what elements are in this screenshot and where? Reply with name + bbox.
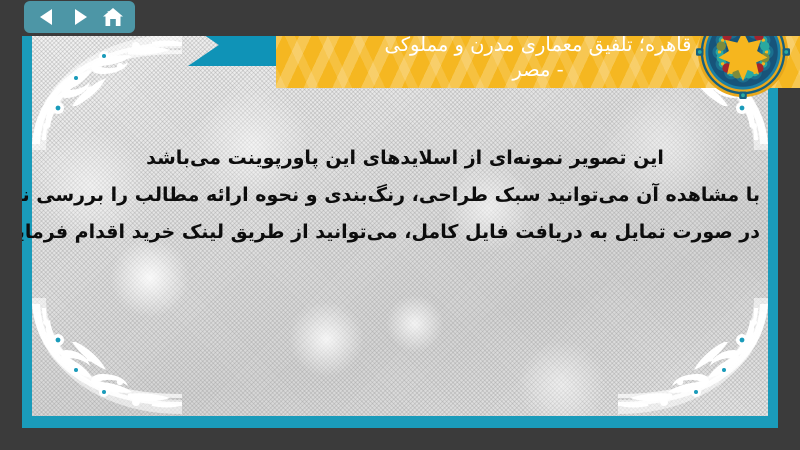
home-icon <box>102 7 124 28</box>
body-line-2: با مشاهده آن می‌توانید سبک طراحی، رنگ‌بن… <box>50 177 760 214</box>
next-slide-button[interactable] <box>66 4 94 30</box>
body-line-1: این تصویر نمونه‌ای از اسلایدهای این پاور… <box>50 140 760 177</box>
previous-slide-button[interactable] <box>33 4 61 30</box>
presentation-viewer: این تصویر نمونه‌ای از اسلایدهای این پاور… <box>0 0 800 450</box>
home-button[interactable] <box>99 4 127 30</box>
navigation-button-group <box>24 1 135 33</box>
next-arrow-icon <box>70 7 90 27</box>
previous-arrow-icon <box>37 7 57 27</box>
body-line-3: در صورت تمایل به دریافت فایل کامل، می‌تو… <box>50 214 760 251</box>
title-line-3: - مصر <box>512 57 563 82</box>
slide-body-text: این تصویر نمونه‌ای از اسلایدهای این پاور… <box>50 140 760 251</box>
viewer-toolbar <box>0 0 800 36</box>
